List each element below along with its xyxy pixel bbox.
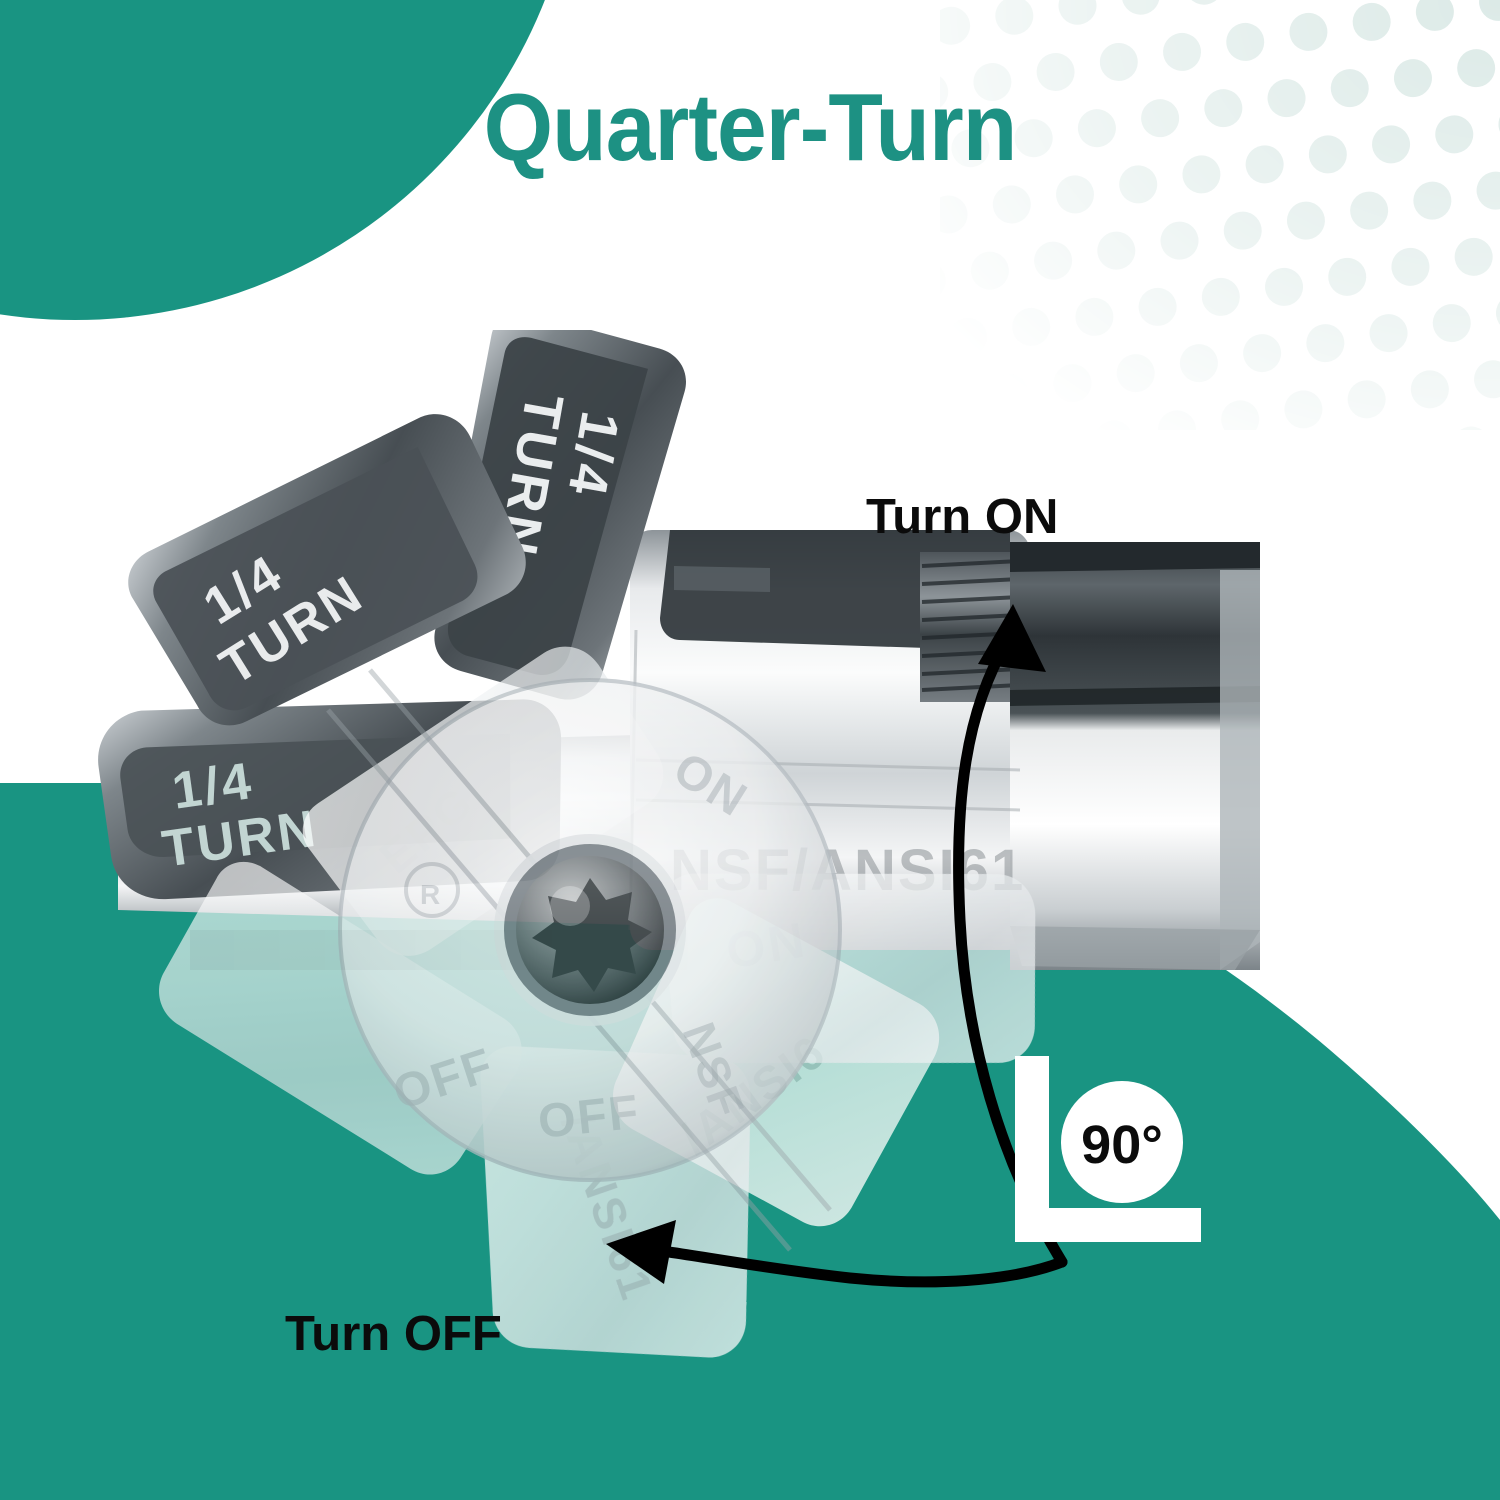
page-title: Quarter-Turn xyxy=(53,78,1448,179)
angle-value-circle: 90° xyxy=(1061,1081,1183,1203)
infographic-canvas: Quarter-Turn xyxy=(0,0,1500,1500)
valve-hex-nut xyxy=(1010,542,1260,970)
callout-turn-on-label: Turn ON xyxy=(866,489,1058,545)
svg-text:R: R xyxy=(420,879,440,910)
angle-value-text: 90° xyxy=(1081,1115,1163,1175)
angle-badge-90: 90° xyxy=(995,1050,1210,1265)
svg-text:OFF: OFF xyxy=(536,1086,643,1149)
callout-turn-off-label: Turn OFF xyxy=(285,1306,502,1362)
